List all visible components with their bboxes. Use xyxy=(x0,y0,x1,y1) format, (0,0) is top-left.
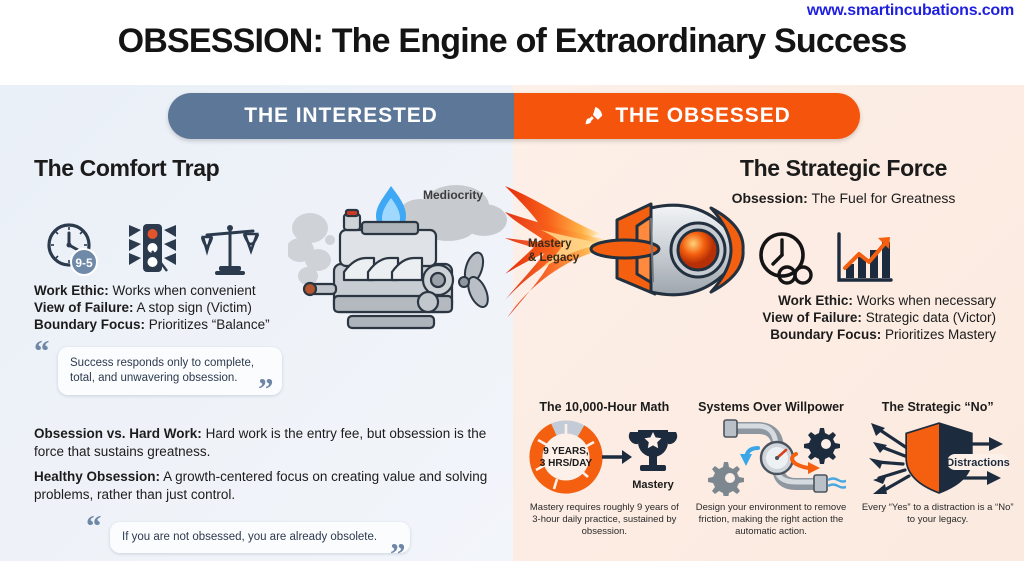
quote-close-mark-2: ” xyxy=(390,536,406,561)
left-heading: The Comfort Trap xyxy=(34,155,219,182)
rocket-icon xyxy=(583,105,605,127)
quote-close-mark: ” xyxy=(258,371,274,407)
right-facts-list: Work Ethic: Works when necessary View of… xyxy=(676,292,996,343)
right-fact-row: View of Failure: Strategic data (Victor) xyxy=(676,309,996,326)
card-caption-0: Mastery requires roughly 9 years of 3-ho… xyxy=(525,502,684,538)
quote-open-mark-2: “ xyxy=(86,508,102,544)
donut-line-2: 3 HRS/DAY xyxy=(540,458,593,469)
mastery-line-1: Mastery xyxy=(528,238,571,250)
paragraph-label-1: Healthy Obsession: xyxy=(34,469,160,484)
card-systems-over-willpower[interactable]: Systems Over Willpower xyxy=(688,400,855,558)
paragraph-healthy-obsession: Healthy Obsession: A growth-centered foc… xyxy=(34,468,494,503)
clock-infinity-icon xyxy=(755,230,817,288)
card-art-0: 9 YEARS, 3 HRS/DAY Mastery xyxy=(526,418,682,496)
donut-line-1: 9 YEARS, xyxy=(544,446,590,457)
right-fact-value-2: Prioritizes Mastery xyxy=(885,327,996,342)
left-fact-row: Boundary Focus: Prioritizes “Balance” xyxy=(34,316,334,333)
page-title: OBSESSION: The Engine of Extraordinary S… xyxy=(0,22,1024,61)
right-fact-value-0: Works when necessary xyxy=(857,293,996,308)
card-art-1 xyxy=(696,418,846,496)
left-facts-list: Work Ethic: Works when convenient View o… xyxy=(34,282,334,333)
mastery-legacy-label: Mastery & Legacy xyxy=(528,237,579,265)
left-icon-row: 9-5 xyxy=(44,218,259,280)
card-caption-2: Every “Yes” to a distraction is a “No” t… xyxy=(858,502,1017,526)
left-fact-value-0: Works when convenient xyxy=(113,283,256,298)
right-heading: The Strategic Force xyxy=(513,155,1024,182)
card-title-1: Systems Over Willpower xyxy=(698,400,844,414)
scales-balance-icon xyxy=(201,221,259,277)
gear-icon xyxy=(804,428,840,464)
quote-top: Success responds only to complete, total… xyxy=(58,347,282,395)
tab-interested-label: THE INTERESTED xyxy=(244,104,437,128)
quote-open-mark: “ xyxy=(34,333,50,369)
right-fact-label-2: Boundary Focus: xyxy=(770,327,881,342)
infographic-root: www.smartincubations.com OBSESSION: The … xyxy=(0,0,1024,561)
right-fact-label-1: View of Failure: xyxy=(762,310,862,325)
shield-arrows-icon: Distractions xyxy=(863,418,1013,496)
trophy-label: Mastery xyxy=(633,479,675,491)
card-title-2: The Strategic “No” xyxy=(882,400,994,414)
paragraph-obsession-vs-hard-work: Obsession vs. Hard Work: Hard work is th… xyxy=(34,425,494,460)
left-fact-value-1: A stop sign (Victim) xyxy=(137,300,252,315)
right-fact-value-1: Strategic data (Victor) xyxy=(866,310,996,325)
card-10000-hour-math[interactable]: The 10,000-Hour Math xyxy=(521,400,688,558)
site-url[interactable]: www.smartincubations.com xyxy=(807,2,1014,20)
tab-obsessed-label: THE OBSESSED xyxy=(615,104,790,128)
left-fact-row: Work Ethic: Works when convenient xyxy=(34,282,334,299)
traffic-light-icon xyxy=(127,221,177,277)
right-fact-label-0: Work Ethic: xyxy=(778,293,853,308)
right-fact-row: Work Ethic: Works when necessary xyxy=(676,292,996,309)
paragraph-label-0: Obsession vs. Hard Work: xyxy=(34,426,202,441)
card-caption-1: Design your environment to remove fricti… xyxy=(692,502,851,538)
left-fact-value-2: Prioritizes “Balance” xyxy=(149,317,270,332)
left-fact-label-1: View of Failure: xyxy=(34,300,134,315)
clock-9-5-icon: 9-5 xyxy=(44,221,102,277)
tab-the-obsessed[interactable]: THE OBSESSED xyxy=(514,93,860,139)
gear-icon-2 xyxy=(708,462,744,496)
svg-text:9-5: 9-5 xyxy=(75,256,93,270)
card-strategic-no[interactable]: The Strategic “No” xyxy=(854,400,1021,558)
card-art-2: Distractions xyxy=(863,418,1013,496)
right-icon-row xyxy=(755,228,895,290)
bottom-cards: The 10,000-Hour Math xyxy=(521,400,1021,558)
right-subtitle-value: The Fuel for Greatness xyxy=(811,190,955,206)
left-fact-label-2: Boundary Focus: xyxy=(34,317,145,332)
mediocrity-label: Mediocrity xyxy=(423,188,483,202)
growth-chart-icon xyxy=(833,230,895,288)
left-fact-row: View of Failure: A stop sign (Victim) xyxy=(34,299,334,316)
donut-progress-trophy-icon: 9 YEARS, 3 HRS/DAY Mastery xyxy=(526,418,682,496)
pipes-gears-gauge-icon xyxy=(696,418,846,496)
card-title-0: The 10,000-Hour Math xyxy=(539,400,669,414)
right-fact-row: Boundary Focus: Prioritizes Mastery xyxy=(676,326,996,343)
right-subtitle-label: Obsession: xyxy=(732,190,808,206)
right-subtitle: Obsession: The Fuel for Greatness xyxy=(663,190,1024,206)
left-fact-label-0: Work Ethic: xyxy=(34,283,109,298)
shield-label: Distractions xyxy=(946,457,1010,469)
tab-the-interested[interactable]: THE INTERESTED xyxy=(168,93,514,139)
mastery-line-2: & Legacy xyxy=(528,252,579,264)
quote-bottom: If you are not obsessed, you are already… xyxy=(110,522,410,553)
comparison-tabs: THE INTERESTED THE OBSESSED xyxy=(168,93,860,139)
